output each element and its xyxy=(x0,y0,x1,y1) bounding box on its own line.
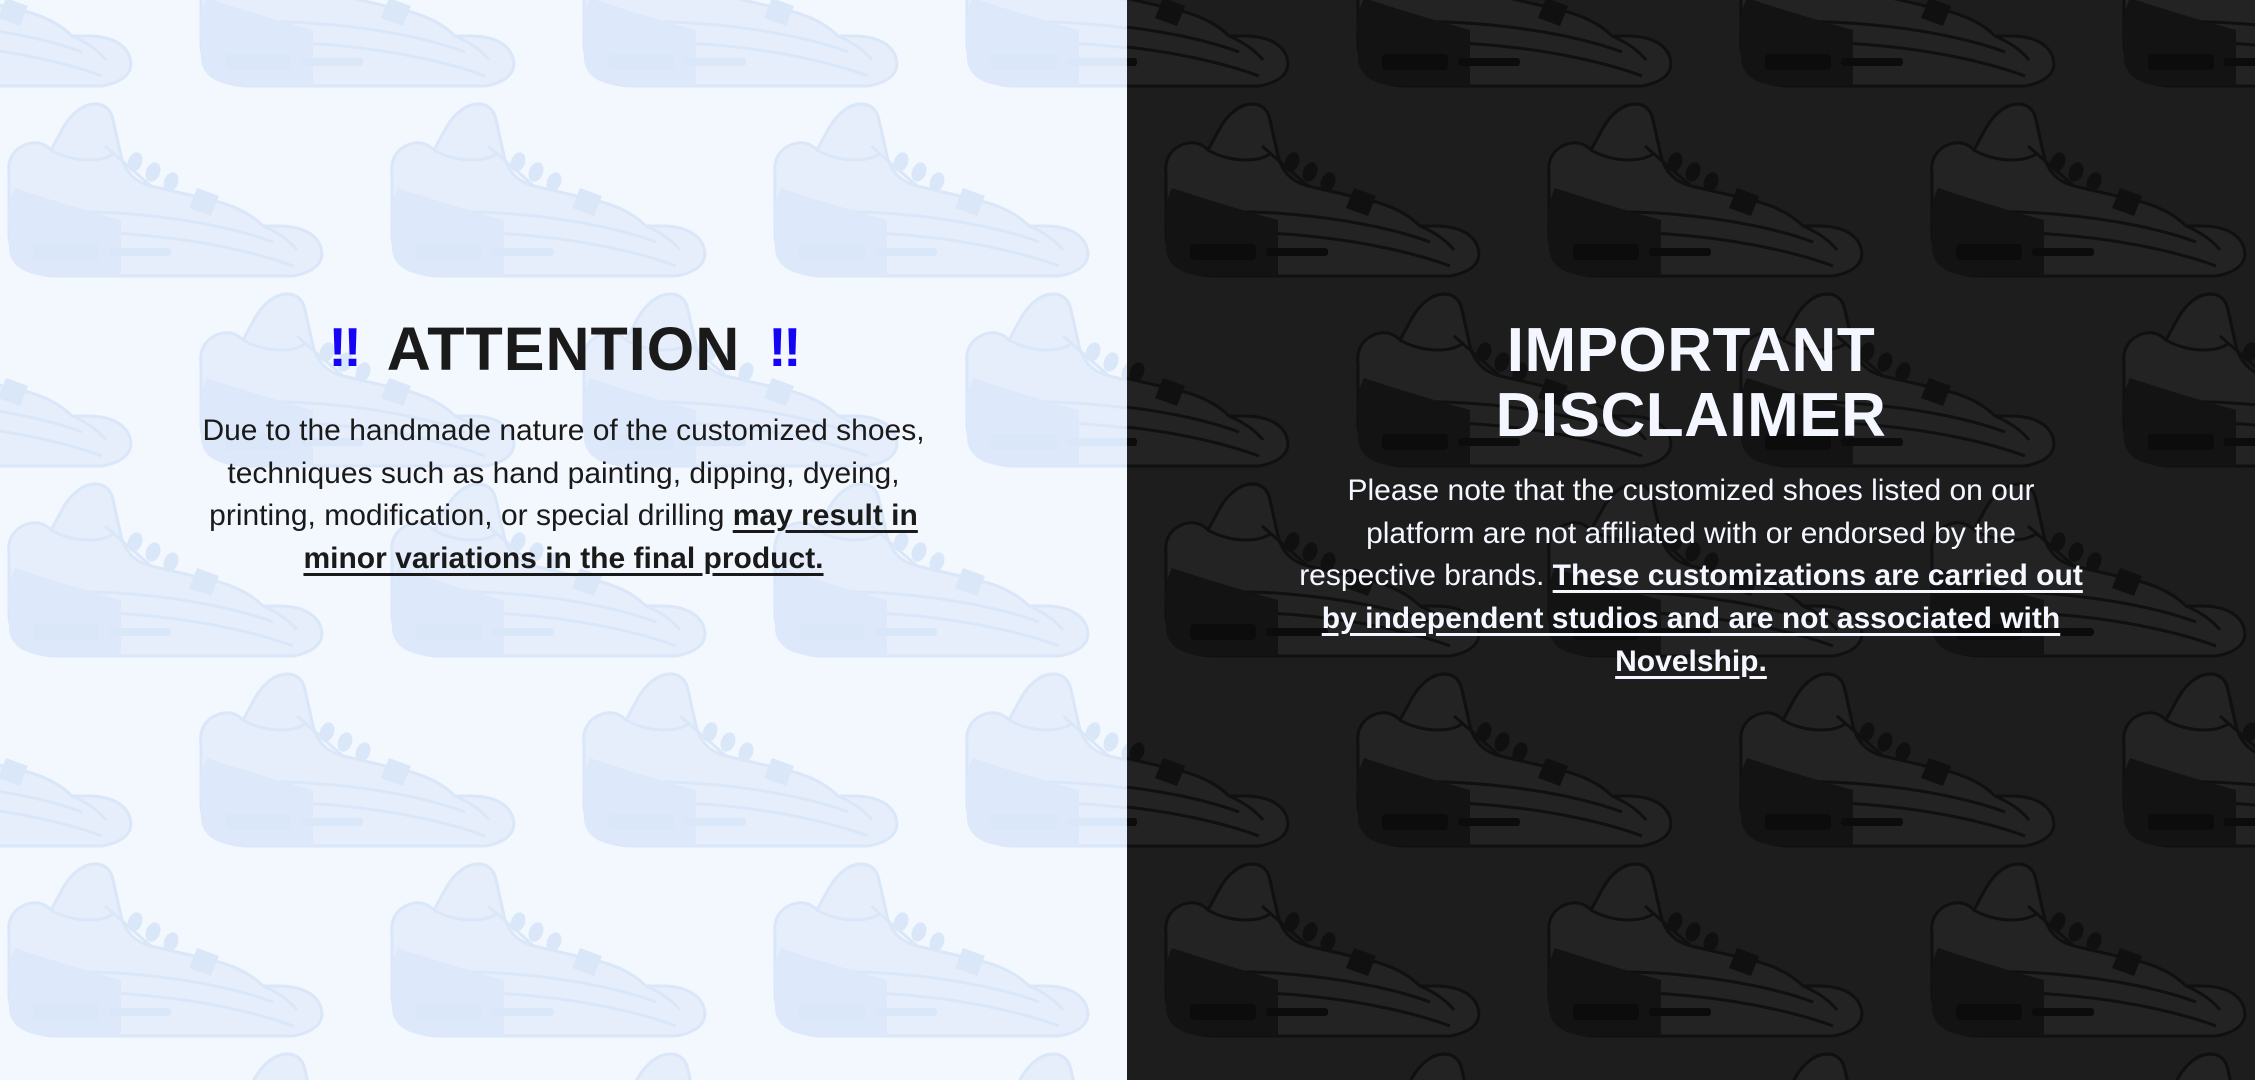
double-exclamation-left-icon: ‼ xyxy=(329,320,359,375)
disclaimer-headline: IMPORTANT DISCLAIMER xyxy=(1292,318,2090,448)
disclaimer-headline-line1: IMPORTANT xyxy=(1507,316,1875,385)
attention-body: Due to the handmade nature of the custom… xyxy=(160,410,967,580)
disclaimer-content: IMPORTANT DISCLAIMER Please note that th… xyxy=(1127,318,2255,683)
disclaimer-banner: ‼ ATTENTION ‼ Due to the handmade nature… xyxy=(0,0,2255,1080)
attention-content: ‼ ATTENTION ‼ Due to the handmade nature… xyxy=(0,318,1127,581)
double-exclamation-right-icon: ‼ xyxy=(768,320,798,375)
attention-headline: ‼ ATTENTION ‼ xyxy=(160,318,967,380)
disclaimer-body: Please note that the customized shoes li… xyxy=(1292,470,2090,683)
disclaimer-panel: IMPORTANT DISCLAIMER Please note that th… xyxy=(1127,0,2255,1080)
attention-headline-text: ATTENTION xyxy=(387,318,741,380)
attention-panel: ‼ ATTENTION ‼ Due to the handmade nature… xyxy=(0,0,1127,1080)
disclaimer-headline-line2: DISCLAIMER xyxy=(1496,381,1887,450)
